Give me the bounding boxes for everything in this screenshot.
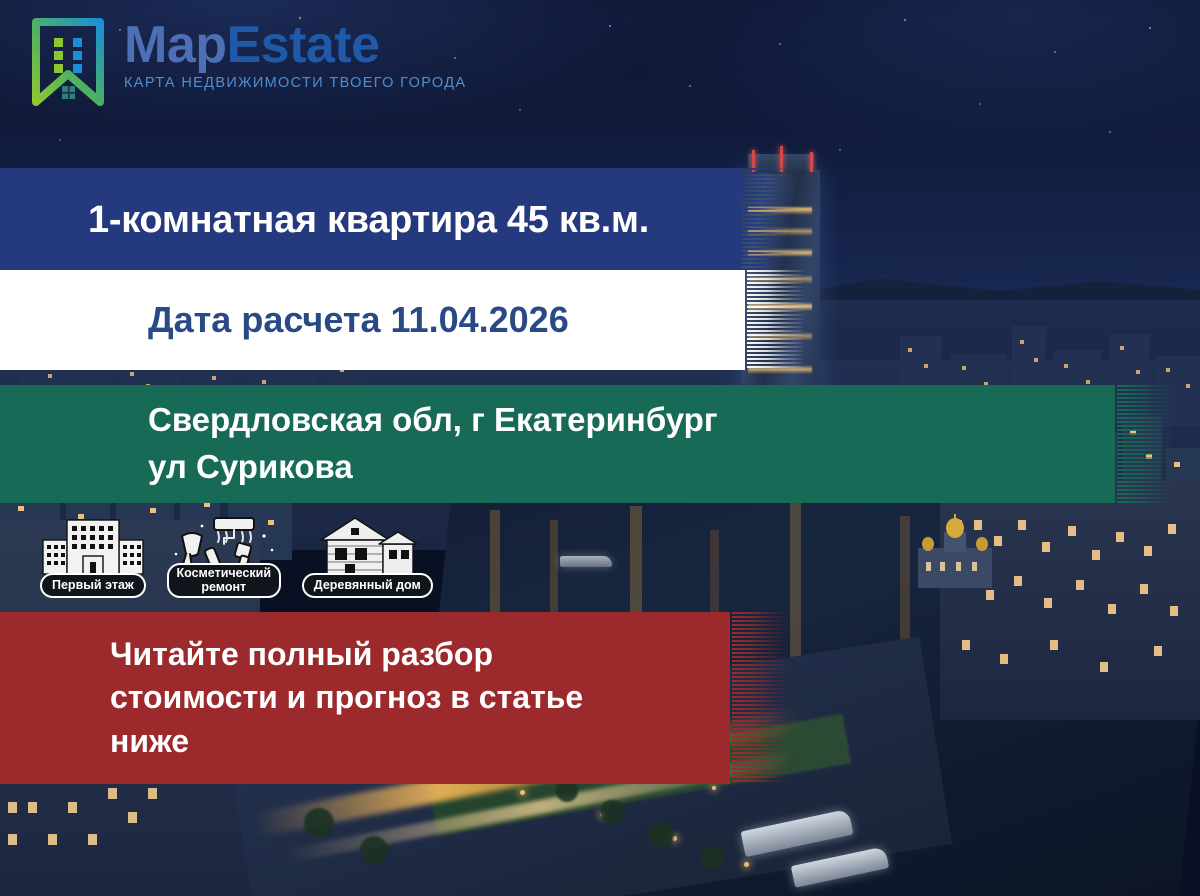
feature-badges: Первый этаж Ко bbox=[40, 516, 447, 598]
cta-line-3: ниже bbox=[110, 720, 583, 764]
cta-banner-right-edge bbox=[732, 612, 790, 784]
address-line-region-city: Свердловская обл, г Екатеринбург bbox=[148, 397, 718, 444]
brand-name-map: Map bbox=[124, 16, 227, 74]
feature-label: Деревянный дом bbox=[302, 573, 433, 598]
address-line-street: ул Сурикова bbox=[148, 444, 718, 491]
wooden-house-icon bbox=[315, 514, 419, 576]
tree bbox=[600, 800, 624, 824]
calculation-date-text: Дата расчета 11.04.2026 bbox=[0, 299, 569, 341]
logo[interactable]: MapEstate КАРТА НЕДВИЖИМОСТИ ТВОЕГО ГОРО… bbox=[30, 18, 466, 106]
date-banner-right-edge bbox=[747, 270, 805, 370]
tree bbox=[648, 822, 674, 848]
feature-label-line1: Косметический bbox=[177, 566, 272, 581]
antenna-light-right bbox=[810, 152, 813, 172]
feature-label: Косметический ремонт bbox=[167, 563, 282, 599]
brand-name-estate: Estate bbox=[227, 16, 380, 74]
feature-label: Первый этаж bbox=[40, 573, 146, 598]
promo-card: MapEstate КАРТА НЕДВИЖИМОСТИ ТВОЕГО ГОРО… bbox=[0, 0, 1200, 896]
tree bbox=[700, 846, 724, 870]
feature-first-floor[interactable]: Первый этаж bbox=[40, 516, 146, 598]
orthodox-church-icon bbox=[900, 510, 1010, 588]
headline-banner-right-edge bbox=[742, 168, 800, 272]
cta-banner[interactable]: Читайте полный разбор стоимости и прогно… bbox=[0, 612, 790, 784]
tree bbox=[304, 808, 334, 838]
bookmark-building-icon bbox=[30, 18, 106, 106]
logo-wordmark: MapEstate КАРТА НЕДВИЖИМОСТИ ТВОЕГО ГОРО… bbox=[124, 20, 466, 91]
cta-line-1: Читайте полный разбор bbox=[110, 633, 583, 677]
address-banner: Свердловская обл, г Екатеринбург ул Сури… bbox=[0, 385, 1175, 503]
brand-name: MapEstate bbox=[124, 20, 466, 71]
street-lamp bbox=[744, 862, 749, 867]
brand-tagline: КАРТА НЕДВИЖИМОСТИ ТВОЕГО ГОРОДА bbox=[124, 75, 466, 91]
feature-wooden-house[interactable]: Деревянный дом bbox=[302, 516, 433, 598]
street-lamp bbox=[712, 786, 716, 790]
cta-text: Читайте полный разбор стоимости и прогно… bbox=[0, 633, 583, 764]
feature-label-line2: ремонт bbox=[177, 580, 272, 595]
address-text: Свердловская обл, г Екатеринбург ул Сури… bbox=[0, 397, 718, 491]
river-boat-3 bbox=[560, 556, 612, 567]
feature-cosmetic-renovation[interactable]: Косметический ремонт bbox=[160, 516, 288, 598]
cta-line-2: стоимости и прогноз в статье bbox=[110, 676, 583, 720]
address-banner-right-edge bbox=[1117, 385, 1175, 503]
apartment-building-icon bbox=[39, 514, 147, 576]
headline-text: 1-комнатная квартира 45 кв.м. bbox=[0, 199, 649, 242]
headline-banner: 1-комнатная квартира 45 кв.м. bbox=[0, 168, 800, 272]
tree bbox=[360, 836, 388, 864]
date-banner: Дата расчета 11.04.2026 bbox=[0, 270, 805, 370]
street-lamp bbox=[520, 790, 525, 795]
